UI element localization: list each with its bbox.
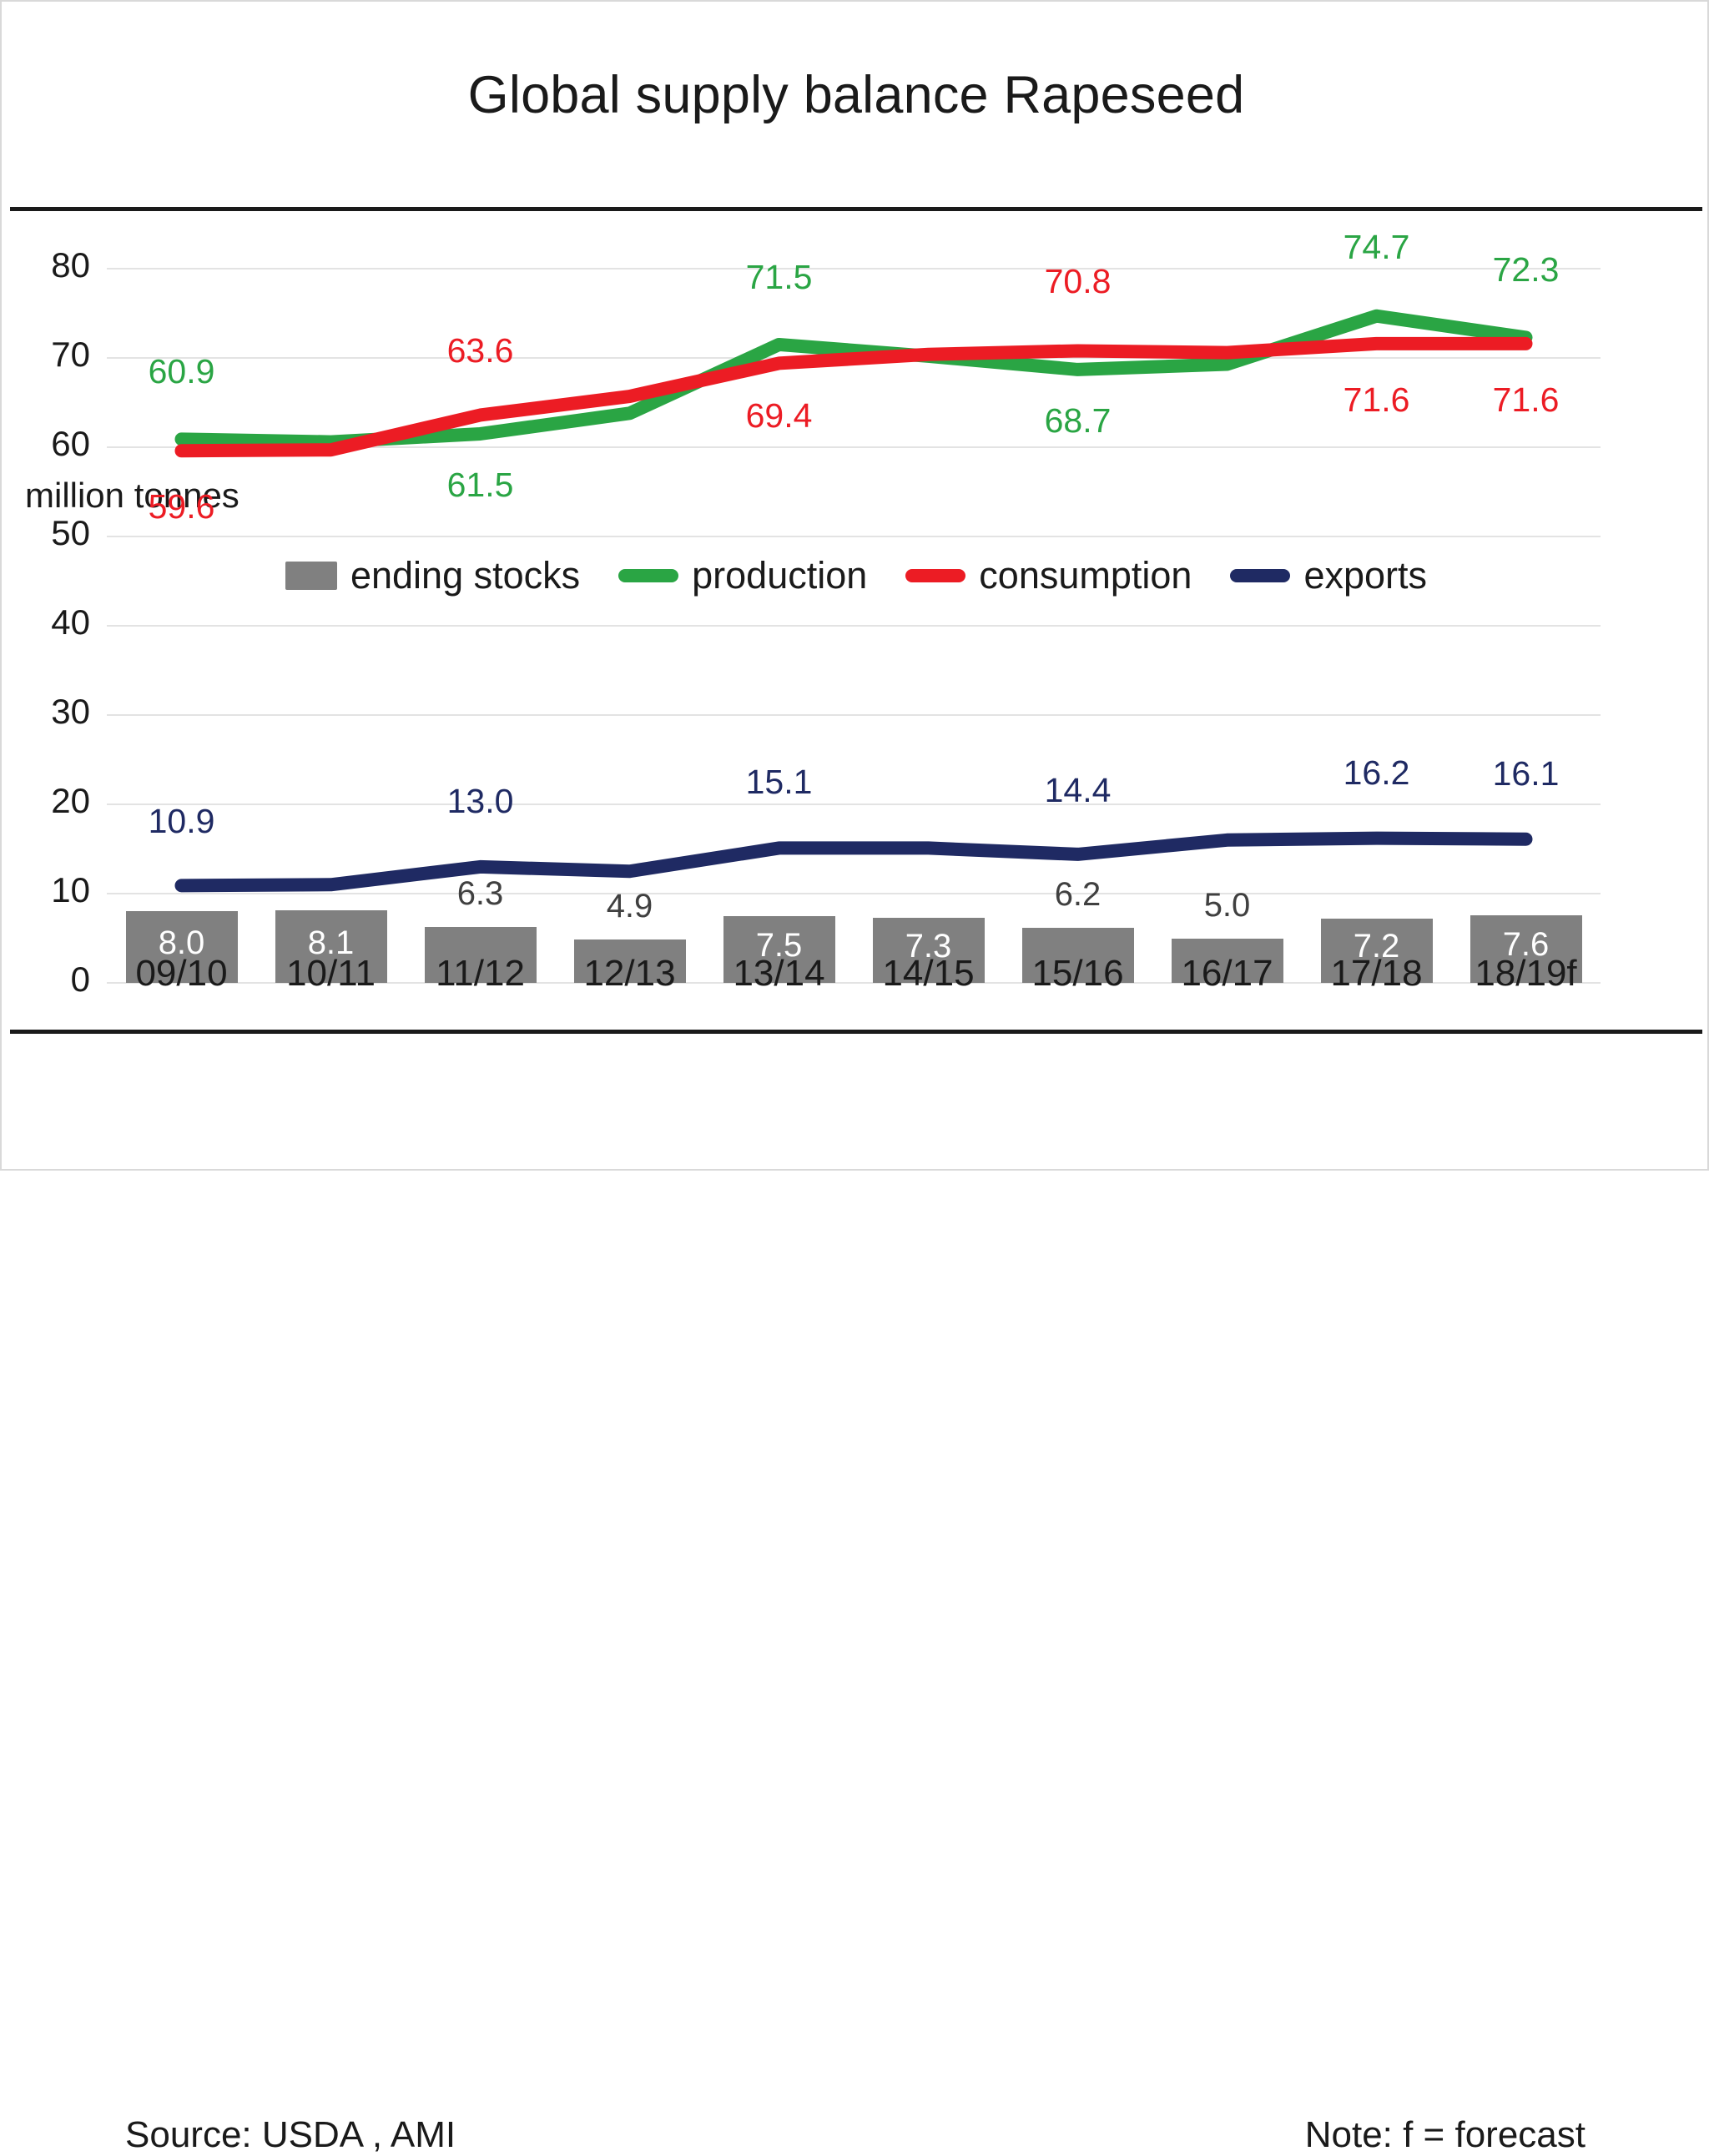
y-axis-tick-label: 30 <box>10 692 90 732</box>
y-axis-tick-label: 10 <box>10 870 90 910</box>
title-band: Global supply balance Rapeseed <box>2 2 1709 209</box>
data-label-production: 61.5 <box>397 466 564 505</box>
data-label-consumption: 69.4 <box>696 396 863 436</box>
legend-label: production <box>692 554 867 597</box>
y-axis-tick-label: 70 <box>10 335 90 375</box>
plot-canvas: 01020304050607080 8.08.16.34.97.57.36.25… <box>107 269 1601 983</box>
legend-item-exports[interactable]: exports <box>1230 554 1427 597</box>
data-label-exports: 13.0 <box>397 782 564 821</box>
legend-item-consumption[interactable]: consumption <box>905 554 1192 597</box>
data-label-consumption: 71.6 <box>1443 380 1610 420</box>
line-exports[interactable] <box>182 839 1526 886</box>
y-axis-tick-label: 20 <box>10 781 90 821</box>
data-label-production: 72.3 <box>1443 250 1610 290</box>
data-label-consumption: 63.6 <box>397 331 564 370</box>
data-label-consumption: 71.6 <box>1293 380 1460 420</box>
legend-label: ending stocks <box>350 554 580 597</box>
y-axis-tick-label: 0 <box>10 960 90 1000</box>
legend-swatch-line-icon <box>905 569 965 582</box>
legend-item-ending-stocks[interactable]: ending stocks <box>285 554 580 597</box>
x-axis-labels: 09/1010/1111/1212/1313/1414/1515/1616/17… <box>107 953 1601 1011</box>
data-label-production: 60.9 <box>98 352 265 391</box>
legend-item-production[interactable]: production <box>618 554 867 597</box>
data-label-production: 71.5 <box>696 258 863 297</box>
data-label-exports: 10.9 <box>98 802 265 841</box>
data-label-consumption: 70.8 <box>995 262 1162 301</box>
y-axis-tick-label: 80 <box>10 245 90 285</box>
chart-frame: Global supply balance Rapeseed million t… <box>0 0 1709 1171</box>
data-label-exports: 16.1 <box>1443 754 1610 793</box>
legend-swatch-box-icon <box>285 562 337 590</box>
line-series-group <box>107 269 1601 983</box>
data-label-consumption: 59.6 <box>98 487 265 526</box>
source-note: Source: USDA , AMI <box>125 2114 456 2156</box>
footer: Source: USDA , AMI Note: f = forecast <box>2 1030 1709 1171</box>
forecast-note: Note: f = forecast <box>1305 2114 1585 2156</box>
data-label-production: 68.7 <box>995 401 1162 441</box>
x-axis-tick-18-19f: 18/19f <box>1434 953 1618 995</box>
y-axis-tick-label: 40 <box>10 602 90 642</box>
legend-swatch-line-icon <box>1230 569 1290 582</box>
data-label-exports: 15.1 <box>696 763 863 802</box>
y-axis-tick-label: 50 <box>10 513 90 553</box>
legend-label: exports <box>1303 554 1427 597</box>
y-axis-tick-label: 60 <box>10 424 90 464</box>
data-label-production: 74.7 <box>1293 228 1460 267</box>
data-label-exports: 14.4 <box>995 771 1162 810</box>
legend-swatch-line-icon <box>618 569 678 582</box>
page-title: Global supply balance Rapeseed <box>2 65 1709 125</box>
data-label-exports: 16.2 <box>1293 753 1460 793</box>
plot-area: million tonnes 01020304050607080 8.08.16… <box>2 210 1709 1028</box>
chart-legend: ending stocksproductionconsumptionexport… <box>2 548 1709 603</box>
legend-label: consumption <box>979 554 1192 597</box>
